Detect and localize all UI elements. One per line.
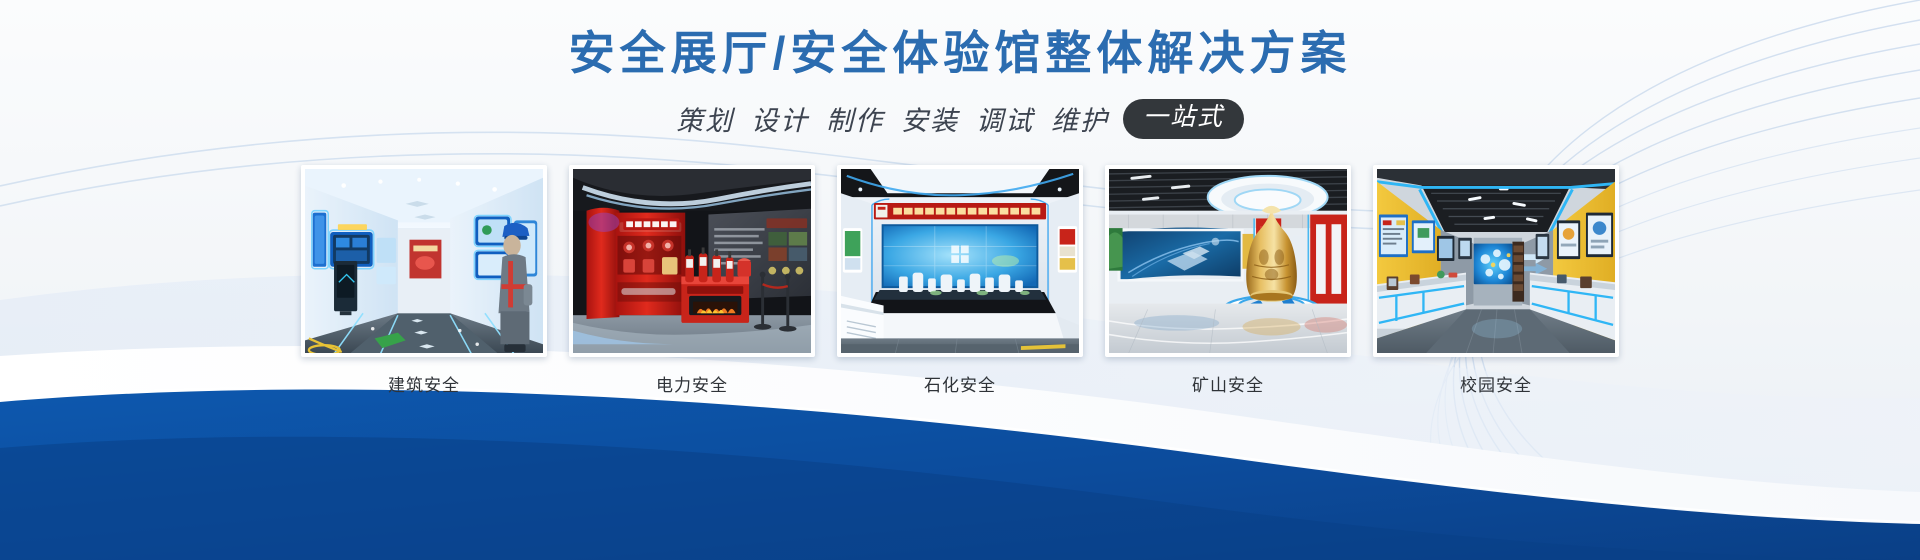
thumbnail-construction-safety[interactable] <box>301 165 547 357</box>
service-step-2: 设计 <box>751 99 809 138</box>
gallery-item[interactable]: 矿山安全 <box>1105 165 1351 396</box>
gallery-item[interactable]: 校园安全 <box>1373 165 1619 396</box>
gallery-item-caption: 电力安全 <box>656 371 728 396</box>
service-steps: 策划 设计 制作 安装 调试 维护 <box>676 99 1109 138</box>
service-step-3: 制作 <box>826 99 884 138</box>
mine-safety-hall-image <box>1109 169 1347 353</box>
service-step-4: 安装 <box>901 99 959 138</box>
gallery-item[interactable]: 建筑安全 <box>301 165 547 396</box>
gallery-strip: 建筑安全 <box>301 165 1619 396</box>
page-title: 安全展厅/安全体验馆整体解决方案 <box>569 26 1352 81</box>
service-step-1: 策划 <box>676 99 734 138</box>
gallery-item-caption: 矿山安全 <box>1192 371 1264 396</box>
thumbnail-campus-safety[interactable] <box>1373 165 1619 357</box>
gallery-item-caption: 校园安全 <box>1460 371 1532 396</box>
service-step-6: 维护 <box>1051 99 1109 138</box>
construction-hall-image <box>305 169 543 353</box>
gallery-item-caption: 石化安全 <box>924 371 996 396</box>
thumbnail-petrochemical-safety[interactable] <box>837 165 1083 357</box>
petrochemical-hall-image <box>841 169 1079 353</box>
fire-equipment-hall-image <box>573 169 811 353</box>
one-stop-badge: 一站式 <box>1123 99 1244 139</box>
banner-content: 安全展厅/安全体验馆整体解决方案 策划 设计 制作 安装 调试 维护 一站式 <box>0 0 1920 560</box>
service-step-5: 调试 <box>976 99 1034 138</box>
thumbnail-power-safety[interactable] <box>569 165 815 357</box>
gallery-item-caption: 建筑安全 <box>388 371 460 396</box>
gallery-item[interactable]: 石化安全 <box>837 165 1083 396</box>
thumbnail-mine-safety[interactable] <box>1105 165 1351 357</box>
subtitle-row: 策划 设计 制作 安装 调试 维护 一站式 <box>676 99 1244 139</box>
gallery-item[interactable]: 电力安全 <box>569 165 815 396</box>
campus-safety-hall-image <box>1377 169 1615 353</box>
banner-root: 安全展厅/安全体验馆整体解决方案 策划 设计 制作 安装 调试 维护 一站式 <box>0 0 1920 560</box>
